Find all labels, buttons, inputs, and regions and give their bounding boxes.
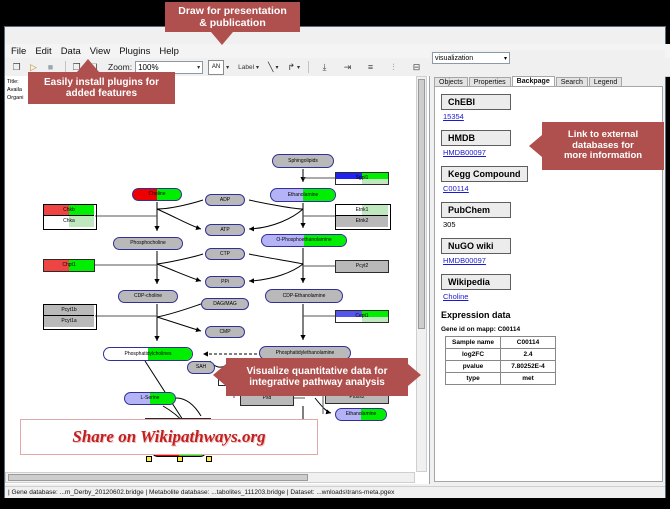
cell-value: met [501,373,556,385]
gene-label: Pcyt2 [356,264,369,269]
cell-key: type [446,373,501,385]
node-label: Phosphocholine [130,241,166,246]
node-cdp-ethanolamine[interactable]: CDP-Ethanolamine [265,289,343,303]
hscroll-thumb[interactable] [8,474,308,481]
gene-label: Psd [263,396,272,401]
node-label: PPi [221,280,229,285]
gene-label: Etnk2 [356,219,369,224]
node-label: CTP [220,252,230,257]
interaction-tool-group[interactable]: ↱ ▾ [287,62,304,73]
expression-gene-id: Gene id on mapp: C00114 [441,326,662,333]
gene-label: Chka [63,219,75,224]
gene-label: Pcyt1a [61,319,76,324]
gene-group-pcyt1[interactable]: Pcyt1b Pcyt1a [43,304,97,330]
visualization-value: visualization [435,55,473,62]
callout-link-databases: Link to external databases for more info… [542,122,664,170]
gene-pcyt1a[interactable]: Pcyt1a [44,316,94,327]
node-cdp-choline[interactable]: CDP-choline [118,290,178,303]
label-tool-group[interactable]: Label ▾ [238,64,263,71]
handle-s[interactable] [177,456,183,462]
table-row: Sample name C00114 [446,337,556,349]
canvas-hscrollbar[interactable] [5,472,415,483]
node-label: CDP-Ethanolamine [283,294,326,299]
align-left-icon[interactable]: ⇥ [341,61,354,74]
gene-pcyt1b[interactable]: Pcyt1b [44,305,94,316]
node-l-serine-left[interactable]: L-Serine [124,392,176,405]
node-phosphocholine[interactable]: Phosphocholine [113,237,183,250]
callout-visualize-arrow-right-icon [408,364,421,386]
gene-label: Cept1 [355,314,368,319]
node-cmp[interactable]: CMP [205,326,245,338]
menu-view[interactable]: View [90,46,110,57]
node-label: CMP [219,330,230,335]
share-text: Share on Wikipathways.org [72,427,265,447]
db-header-chebi: ChEBI [441,94,511,110]
callout-draw-arrow-icon [211,32,233,45]
callout-link-arrow-icon [529,135,542,157]
chevron-down-icon: ▾ [197,64,200,71]
align-center-icon[interactable]: ⤓ [318,61,331,74]
gene-etnk2[interactable]: Etnk2 [336,216,388,227]
align-stack-icon[interactable]: ≡ [364,61,377,74]
chevron-down-icon[interactable]: ▾ [226,64,229,71]
cell-key: Sample name [446,337,501,349]
common-width-icon[interactable]: ⊟ [410,61,423,74]
gene-group-etnk[interactable]: Etnk1 Etnk2 [335,204,391,230]
node-atp[interactable]: ATP [205,224,245,236]
chevron-down-icon: ▾ [504,55,507,62]
cell-key: log2FC [446,349,501,361]
vscroll-thumb[interactable] [418,79,425,329]
gene-group-chk[interactable]: Chkb Chka [43,204,97,230]
handle-sw[interactable] [146,456,152,462]
db-value-pubchem: 305 [443,220,662,229]
node-label: DAG/MAG [213,302,237,307]
node-label: Sphingolipids [288,159,318,164]
db-link-wikipedia[interactable]: Choline [443,292,662,301]
callout-draw: Draw for presentation & publication [165,2,300,32]
datanode-tool-group[interactable]: AN ▾ [208,60,233,75]
table-row: type met [446,373,556,385]
table-row: pvalue 7.80252E-4 [446,361,556,373]
gene-label: Chpt1 [62,263,75,268]
toolbar-separator-2 [308,61,309,73]
gene-label: Etnk1 [356,208,369,213]
datanode-icon[interactable]: AN [208,60,224,75]
db-header-wikipedia: Wikipedia [441,274,511,290]
interaction-icon[interactable]: ↱ [287,62,295,73]
table-row: log2FC 2.4 [446,349,556,361]
gene-label: Chkb [63,208,75,213]
db-header-nugo: NuGO wiki [441,238,511,254]
gene-chka[interactable]: Chka [44,216,94,227]
cell-value: C00114 [501,337,556,349]
gene-pcyt2[interactable]: Pcyt2 [335,260,389,273]
menu-data[interactable]: Data [61,46,81,57]
label-tool-text[interactable]: Label [238,64,254,71]
node-label: SAH [196,365,206,370]
gene-chkb[interactable]: Chkb [44,205,94,216]
screen: Mm_Kennedy_pathway_WP1771_45176.gpml Fil… [0,0,670,509]
new-file-icon[interactable]: ❐ [10,61,23,74]
node-label: CDP-choline [134,294,162,299]
node-ppi[interactable]: PPi [205,276,245,288]
node-label: L-Serine [141,396,160,401]
cell-key: pvalue [446,361,501,373]
node-sphingolipids[interactable]: Sphingolipids [272,154,334,168]
node-ctp[interactable]: CTP [205,248,245,260]
cell-value: 2.4 [501,349,556,361]
callout-share: Share on Wikipathways.org [20,419,318,455]
expression-data-title: Expression data [441,310,662,320]
node-dag-mag[interactable]: DAG/MAG [201,298,249,310]
zoom-value: 100% [138,63,158,72]
node-ethanolamine[interactable]: Ethanolamine [270,188,336,202]
node-label: ATP [220,228,229,233]
node-phosphatidylcholines[interactable]: Phosphatidylcholines [103,347,193,361]
db-link-kegg[interactable]: C00114 [443,184,662,193]
cell-value: 7.80252E-4 [501,361,556,373]
gene-etnk1[interactable]: Etnk1 [336,205,388,216]
node-adp[interactable]: ADP [205,194,245,206]
menu-help[interactable]: Help [159,46,179,57]
node-label: ADP [220,198,230,203]
callout-plugins: Easily install plugins for added feature… [28,72,175,104]
db-link-nugo[interactable]: HMDB00097 [443,256,662,265]
canvas-vscrollbar[interactable] [416,76,427,472]
gene-label: Sgpl1 [356,176,369,181]
node-label: Phosphatidylcholines [125,352,172,357]
zoom-label: Zoom: [108,62,132,72]
line-icon[interactable]: ╲ [268,62,273,73]
chevron-down-icon[interactable]: ▾ [256,64,259,71]
distribute-icon[interactable]: ⫶ [387,61,400,74]
handle-se[interactable] [206,456,212,462]
callout-visualize-arrow-left-icon [213,364,226,386]
node-choline-top[interactable]: Choline [132,188,182,201]
menu-file[interactable]: File [11,46,26,57]
node-label: O-Phosphoethanolamine [276,238,331,243]
visualization-select[interactable]: visualization ▾ [432,52,510,64]
gene-label: Pcyt1b [61,308,76,313]
node-sah[interactable]: SAH [187,361,215,374]
node-o-phosphoethanolamine[interactable]: O-Phosphoethanolamine [261,234,347,247]
chevron-down-icon[interactable]: ▾ [275,64,278,71]
node-ethanolamine-right[interactable]: Ethanolamine [335,408,387,421]
callout-plugins-arrow-icon [77,59,99,72]
line-tool-group[interactable]: ╲ ▾ [268,62,282,73]
gene-chpt1[interactable]: Chpt1 [43,259,95,272]
db-header-hmdb: HMDB [441,130,511,146]
gene-sgpl1[interactable]: Sgpl1 [335,172,389,185]
node-label: Ethanolamine [288,193,319,198]
chevron-down-icon[interactable]: ▾ [297,64,300,71]
menu-edit[interactable]: Edit [35,46,51,57]
db-header-pubchem: PubChem [441,202,511,218]
gene-cept1[interactable]: Cept1 [335,310,389,323]
menu-plugins[interactable]: Plugins [119,46,150,57]
db-link-chebi[interactable]: 15354 [443,112,662,121]
callout-visualize: Visualize quantitative data for integrat… [226,358,408,396]
statusbar-text: | Gene database: ...m_Derby_20120602.bri… [5,489,394,496]
expression-table: Sample name C00114 log2FC 2.4 pvalue 7.8… [445,336,556,385]
statusbar: | Gene database: ...m_Derby_20120602.bri… [5,486,665,498]
db-header-kegg: Kegg Compound [441,166,528,182]
node-label: Phosphatidylethanolamine [276,351,335,356]
node-label: Ethanolamine [346,412,377,417]
node-label: Choline [149,192,166,197]
